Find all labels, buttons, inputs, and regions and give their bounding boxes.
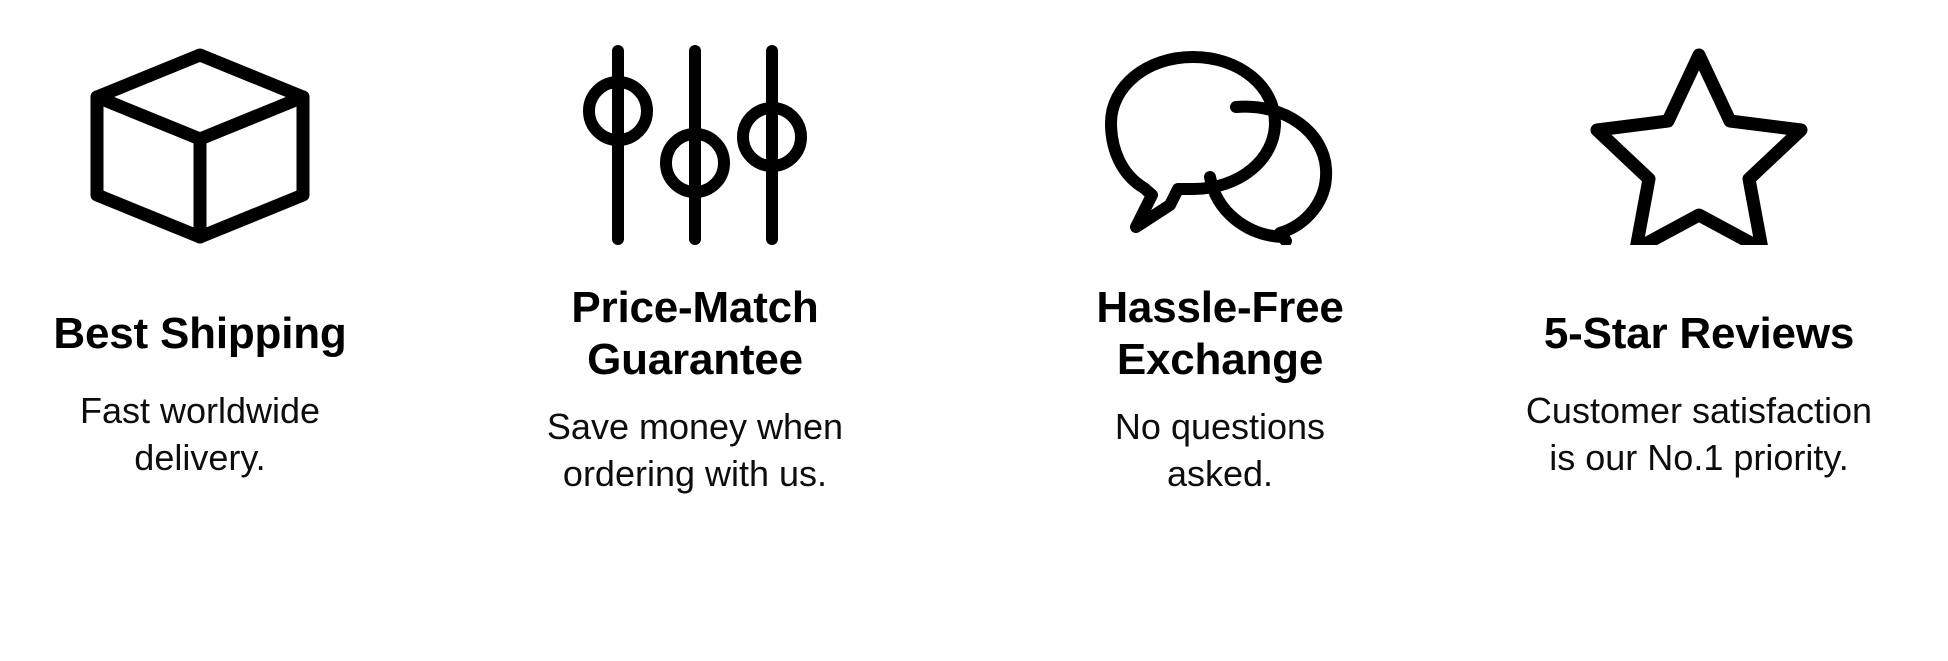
feature-description-line: No questions [1115,404,1325,451]
feature-title-line: Exchange [1096,334,1343,386]
feature-title-line: Price-Match [571,282,818,334]
feature-description: Fast worldwide delivery. [80,360,320,482]
feature-description-line: Save money when [547,404,843,451]
feature-description-line: ordering with us. [547,451,843,498]
feature-description: Save money when ordering with us. [547,386,843,498]
feature-description: Customer satisfaction is our No.1 priori… [1526,360,1872,482]
feature-description: No questions asked. [1115,386,1325,498]
features-strip: Best Shipping Fast worldwide delivery. P… [0,0,1948,661]
feature-card-best-shipping[interactable]: Best Shipping Fast worldwide delivery. [0,0,400,482]
feature-title: 5-Star Reviews [1544,260,1854,360]
chat-bubbles-icon [1100,30,1340,260]
feature-description-line: delivery. [80,435,320,482]
feature-title-line: Guarantee [571,334,818,386]
feature-description-line: asked. [1115,451,1325,498]
feature-title: Best Shipping [53,260,346,360]
feature-title-line: Hassle-Free [1096,282,1343,334]
star-outline-icon [1584,30,1814,260]
feature-description-line: is our No.1 priority. [1526,435,1872,482]
feature-title-line: 5-Star Reviews [1544,308,1854,360]
feature-title-line: Best Shipping [53,308,346,360]
feature-card-5-star-reviews[interactable]: 5-Star Reviews Customer satisfaction is … [1450,0,1948,482]
feature-description-line: Customer satisfaction [1526,388,1872,435]
feature-title: Price-Match Guarantee [571,260,818,386]
feature-description-line: Fast worldwide [80,388,320,435]
sliders-icon [580,30,810,260]
feature-title: Hassle-Free Exchange [1096,260,1343,386]
feature-card-hassle-free-exchange[interactable]: Hassle-Free Exchange No questions asked. [990,0,1450,497]
feature-card-price-match-guarantee[interactable]: Price-Match Guarantee Save money when or… [400,0,990,497]
cube-box-icon [85,30,315,260]
